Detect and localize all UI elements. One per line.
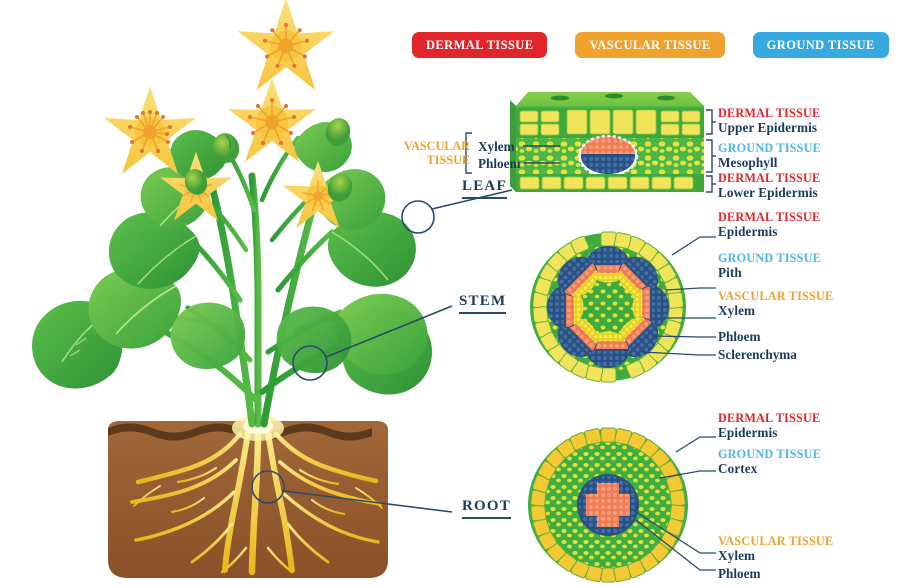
root-epidermis-ring [531,428,686,582]
soil-block [108,421,388,578]
stem-cross-section-circle [530,232,686,382]
stem-callout-circle [293,346,327,380]
legend-badge-vascular[interactable]: VASCULAR TISSUE [575,32,724,58]
organ-label-leaf: LEAF [462,178,507,199]
upper-epidermis-bracket [706,110,712,134]
plant-stems [112,138,404,424]
lower-epidermis-cells [516,174,704,192]
organ-label-root: ROOT [462,498,511,519]
root-label-cortex: GROUND TISSUE Cortex [718,448,821,476]
stem-pith-name: Pith [718,266,821,281]
leaf-vascular-line1: VASCULAR [385,139,470,153]
stem-phloem-name: Phloem [718,329,761,345]
root-vascular-tissue-type: VASCULAR TISSUE [718,535,833,549]
leaf-cross-section-block [510,92,704,192]
stem-vascular-bundles [547,246,669,368]
leaf-meso-tissue-type: GROUND TISSUE [718,142,821,156]
root-label-connectors [630,437,716,570]
root-system [132,432,382,572]
stem-label-vascular: VASCULAR TISSUE Xylem [718,290,833,318]
root-label-vascular: VASCULAR TISSUE Xylem [718,535,833,563]
root-cortex-tissue-type: GROUND TISSUE [718,448,821,462]
stem-epidermis-tissue-type: DERMAL TISSUE [718,211,820,225]
lower-epidermis-bracket [706,176,712,192]
leaf-upper-name: Upper Epidermis [718,121,820,136]
root-epidermis-tissue-type: DERMAL TISSUE [718,412,820,426]
leaf-label-upper-epidermis: DERMAL TISSUE Upper Epidermis [718,107,820,135]
leaf-label-lower-epidermis: DERMAL TISSUE Lower Epidermis [718,172,820,200]
leaf-upper-tissue-type: DERMAL TISSUE [718,107,820,121]
stem-sclerenchyma-name: Sclerenchyma [718,347,797,363]
leaf-lower-name: Lower Epidermis [718,186,820,201]
stem-leader-line [326,306,452,357]
legend-badge-ground[interactable]: GROUND TISSUE [753,32,889,58]
stem-pith-tissue-type: GROUND TISSUE [718,252,821,266]
root-phloem-name: Phloem [718,566,761,582]
root-xylem-name: Xylem [718,549,833,564]
leaf-lower-tissue-type: DERMAL TISSUE [718,172,820,186]
leaf-meso-name: Mesophyll [718,156,821,171]
root-epidermis-name: Epidermis [718,426,820,441]
callout-leaders [252,190,512,512]
mesophyll-bracket [706,140,712,172]
leaf-vascular-line2: TISSUE [385,153,470,167]
diagram-canvas: DERMAL TISSUE VASCULAR TISSUE GROUND TIS… [0,0,910,587]
stem-label-pith: GROUND TISSUE Pith [718,252,821,280]
root-label-epidermis: DERMAL TISSUE Epidermis [718,412,820,440]
stem-xylem-name: Xylem [718,304,833,319]
stem-label-connectors [642,237,716,355]
root-stele [577,474,639,536]
root-cortex-name: Cortex [718,462,821,477]
stem-label-epidermis: DERMAL TISSUE Epidermis [718,211,820,239]
leaf-callout-circle [402,201,434,233]
upper-epidermis-cells [516,108,704,138]
leaf-vascular-bundle [579,136,637,176]
leaf-label-mesophyll: GROUND TISSUE Mesophyll [718,142,821,170]
root-callout-circle [252,471,284,503]
root-cross-section-circle [528,428,688,582]
tissue-legend: DERMAL TISSUE VASCULAR TISSUE GROUND TIS… [412,32,889,58]
flower-bud [182,115,357,205]
stem-epidermis-ring [533,232,684,382]
legend-badge-dermal[interactable]: DERMAL TISSUE [412,32,547,58]
leaf-phloem-label: Phloem [478,156,521,172]
plant-leaves [32,122,432,395]
stem-epidermis-name: Epidermis [718,225,820,240]
root-leader-line [284,491,452,512]
stem-vascular-tissue-type: VASCULAR TISSUE [718,290,833,304]
leaf-vascular-tissue-label: VASCULAR TISSUE [385,139,470,167]
plant-flowers [104,0,356,228]
leaf-xylem-label: Xylem [478,139,515,155]
organ-label-stem: STEM [459,293,506,314]
